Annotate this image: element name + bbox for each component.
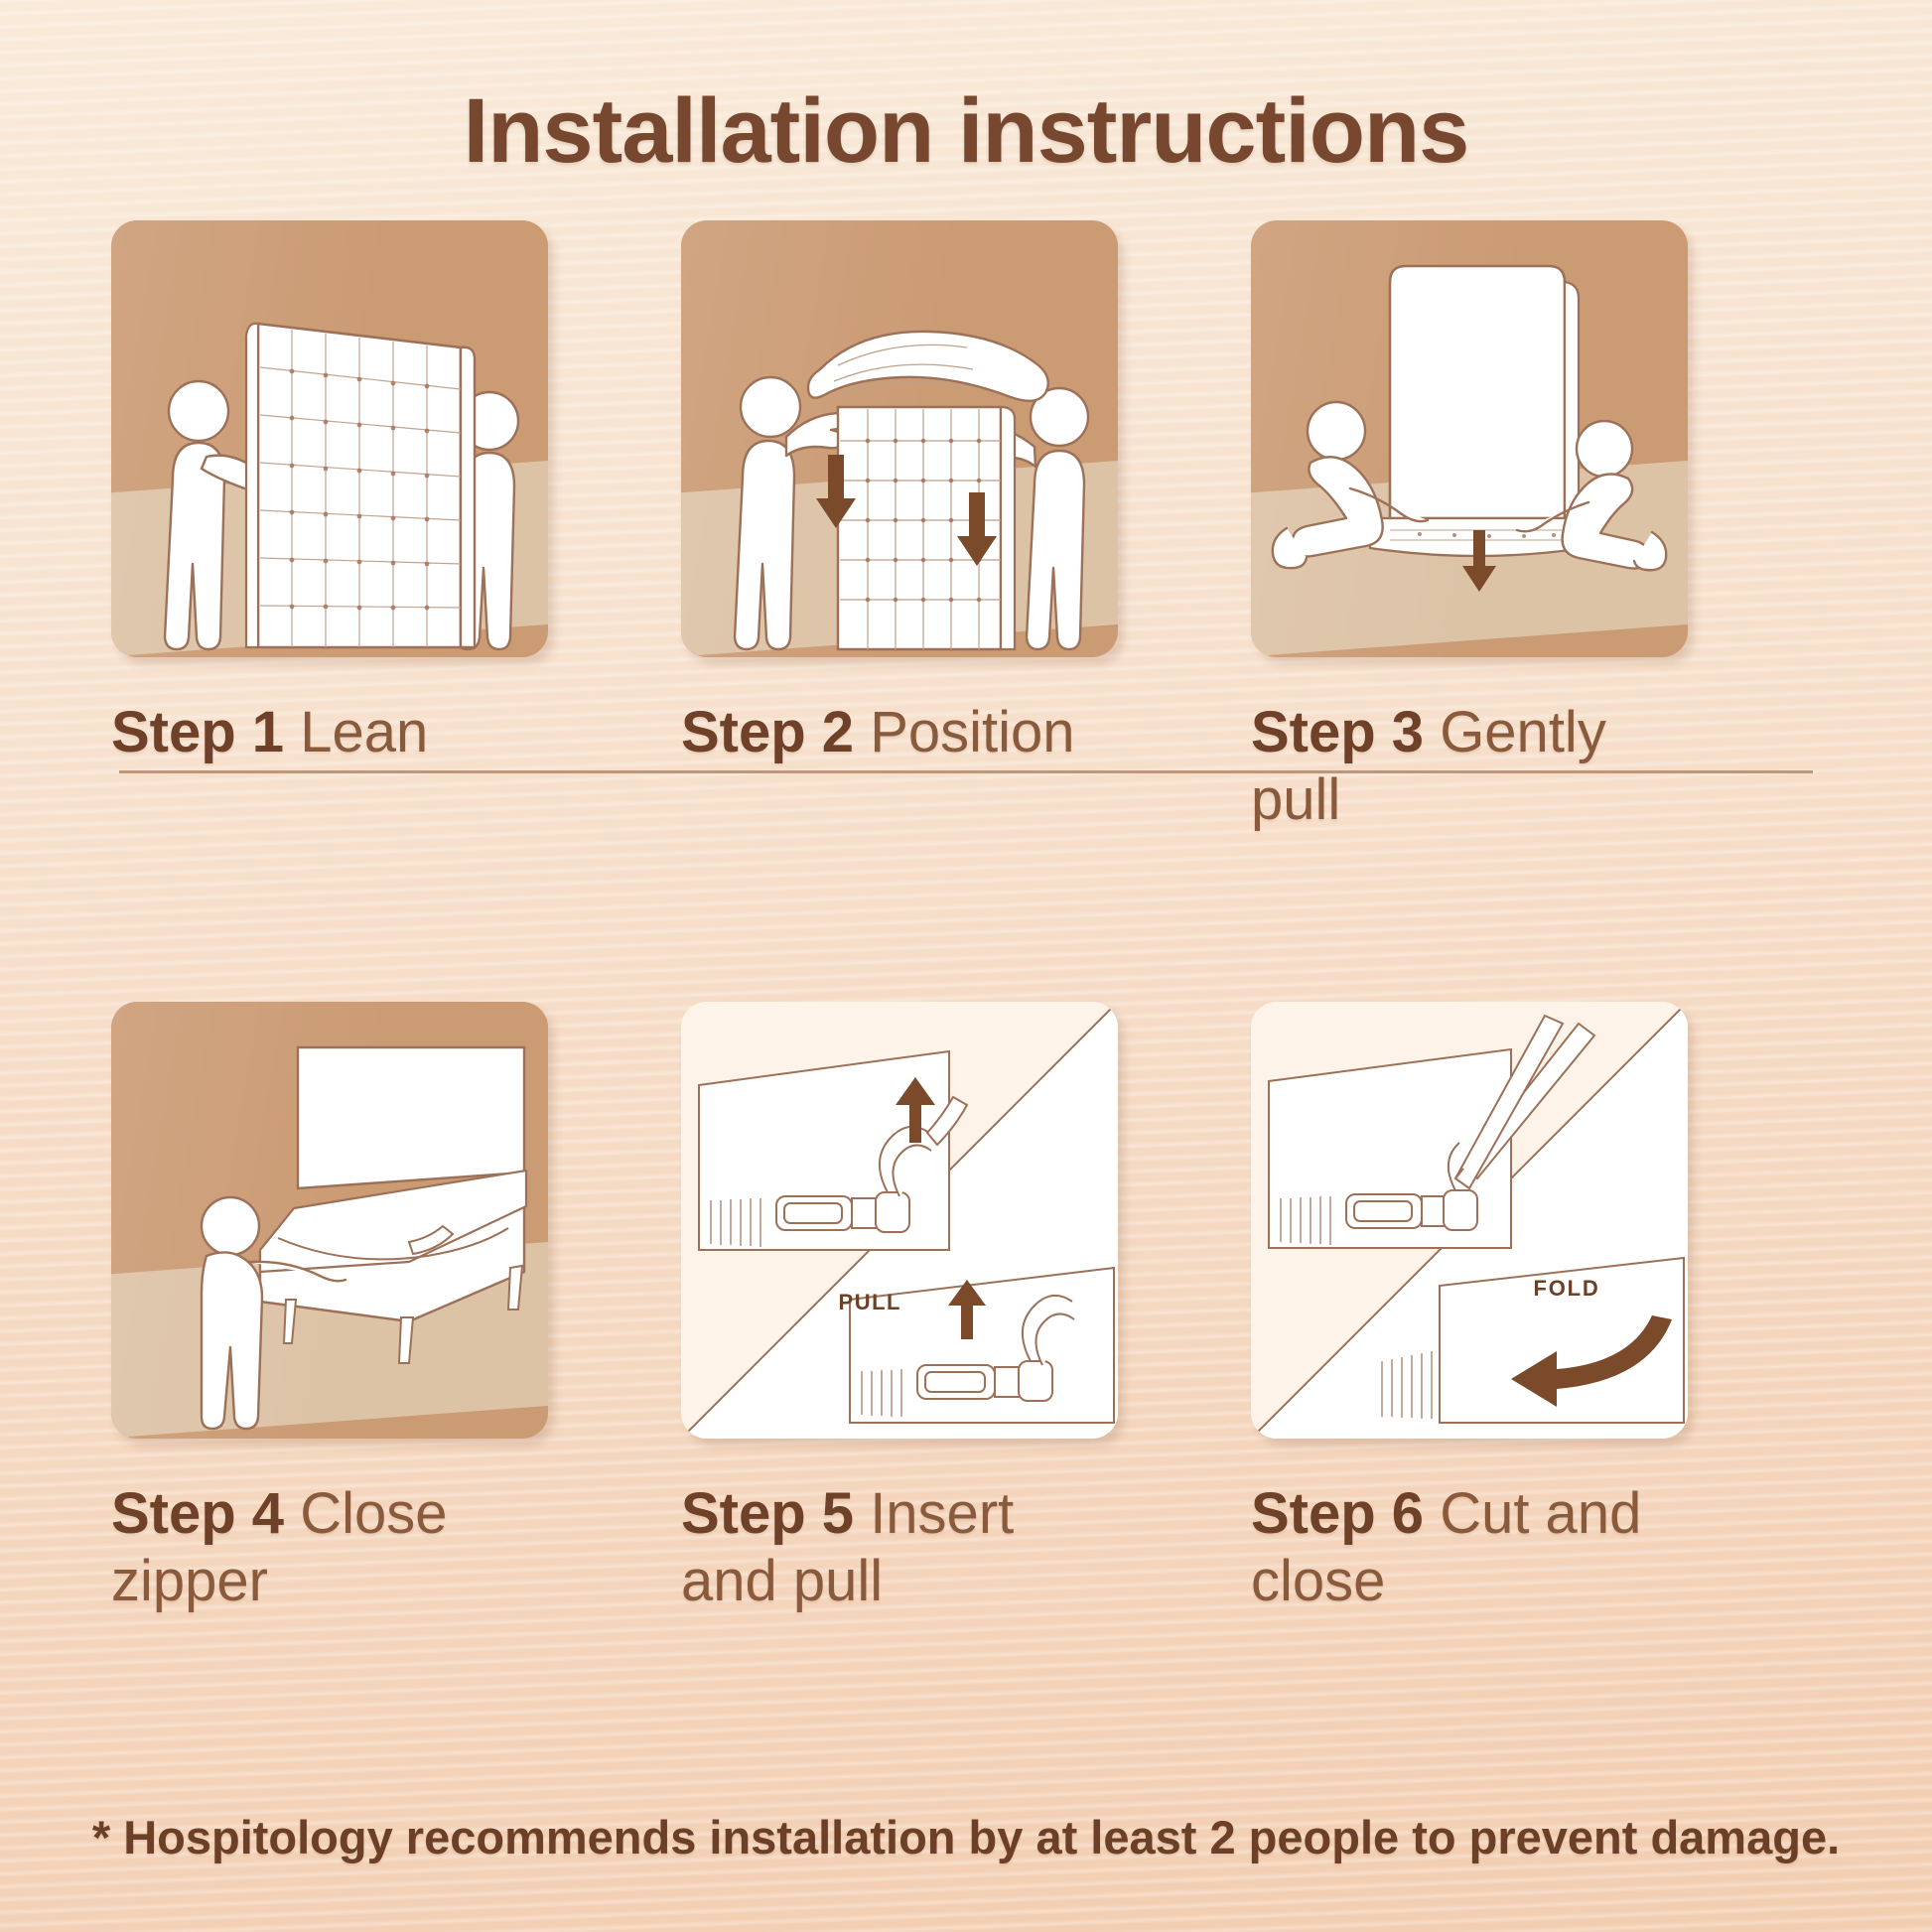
step-3-number: Step 3: [1251, 700, 1424, 764]
step-4-caption: Step 4 Close zipper: [111, 1480, 548, 1616]
infographic-page: Installation instructions: [0, 0, 1932, 1932]
step-3-caption: Step 3 Gently pull: [1251, 699, 1688, 835]
step-3-figures: [1251, 220, 1688, 657]
steps-grid: Step 1 Lean: [111, 220, 1821, 1616]
step-card-1: Step 1 Lean: [111, 220, 681, 835]
step-card-3: Step 3 Gently pull: [1251, 220, 1821, 835]
step-card-6: FOLD Step 6 Cut and close: [1251, 835, 1821, 1616]
fold-label: FOLD: [1533, 1276, 1599, 1301]
step-1-action: Lean: [300, 700, 428, 764]
step-2-illustration: [681, 220, 1118, 657]
pull-label: PULL: [839, 1290, 901, 1314]
step-4-number: Step 4: [111, 1481, 284, 1546]
step-4-illustration: [111, 1002, 548, 1439]
step-5-detail-scene: PULL: [681, 1002, 1118, 1439]
step-1-figures: [111, 220, 548, 657]
step-card-2: Step 2 Position: [681, 220, 1251, 835]
step-2-action: Position: [870, 700, 1074, 764]
page-title: Installation instructions: [0, 79, 1932, 184]
step-card-4: Step 4 Close zipper: [111, 835, 681, 1616]
step-1-number: Step 1: [111, 700, 284, 764]
step-5-illustration: PULL: [681, 1002, 1118, 1439]
step-6-detail-scene: FOLD: [1251, 1002, 1688, 1439]
step-3-illustration: [1251, 220, 1688, 657]
step-6-number: Step 6: [1251, 1481, 1424, 1546]
step-1-caption: Step 1 Lean: [111, 699, 548, 766]
step-card-5: PULL Step 5 Insert and pull: [681, 835, 1251, 1616]
step-6-caption: Step 6 Cut and close: [1251, 1480, 1688, 1616]
footnote: * Hospitology recommends installation by…: [0, 1810, 1932, 1864]
step-5-caption: Step 5 Insert and pull: [681, 1480, 1118, 1616]
step-2-caption: Step 2 Position: [681, 699, 1118, 766]
step-6-illustration: FOLD: [1251, 1002, 1688, 1439]
step-2-figures: [681, 220, 1118, 657]
step-2-number: Step 2: [681, 700, 854, 764]
step-5-number: Step 5: [681, 1481, 854, 1546]
step-4-bed-scene: [111, 1002, 548, 1439]
step-1-illustration: [111, 220, 548, 657]
